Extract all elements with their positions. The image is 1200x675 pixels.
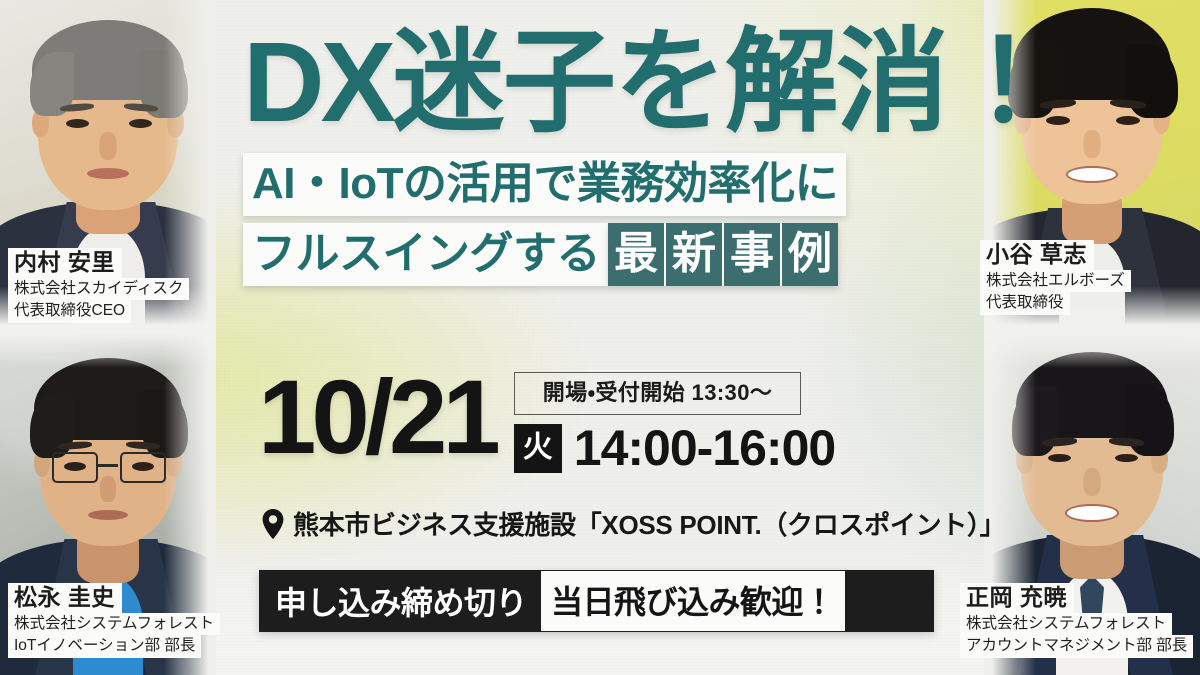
speaker-company: 株式会社システムフォレスト: [8, 613, 220, 636]
speaker-company: 株式会社システムフォレスト: [960, 613, 1172, 636]
highlight-char-2: 新: [666, 223, 724, 286]
title-latin: DX: [243, 19, 392, 145]
venue-row: 熊本市ビジネス支援施設「XOSS POINT.（クロスポイント）」: [262, 505, 1005, 542]
speaker-company: 株式会社スカイディスク: [8, 278, 189, 301]
doors-open-note: 開場・受付開始 13:30〜: [514, 372, 801, 415]
highlight-boxes: 最 新 事 例: [608, 223, 838, 286]
subtitle-row-2: フルスイングする 最 新 事 例: [243, 223, 973, 286]
subtitle-group: AI・IoTの活用で業務効率化に フルスイングする 最 新 事 例: [243, 153, 973, 286]
speaker-company: 株式会社エルボーズ: [980, 270, 1131, 293]
speaker-name: 正岡 充暁: [960, 583, 1074, 613]
speaker-caption-top-right: 小谷 草志 株式会社エルボーズ 代表取締役: [980, 240, 1131, 315]
venue-name: 熊本市ビジネス支援施設「XOSS POINT.（クロスポイント）」: [293, 505, 1005, 542]
speaker-name: 小谷 草志: [980, 240, 1094, 270]
page-title: DX迷子を解消！: [243, 26, 973, 139]
speaker-name: 内村 安里: [8, 248, 122, 278]
cta-deadline-label: 申し込み締め切り: [275, 578, 527, 624]
highlight-char-1: 最: [608, 223, 666, 286]
speaker-caption-bottom-left: 松永 圭史 株式会社システムフォレスト IoTイノベーション部 部長: [8, 583, 220, 658]
headline-group: DX迷子を解消！ AI・IoTの活用で業務効率化に フルスイングする 最 新 事…: [243, 26, 973, 293]
map-pin-icon: [262, 509, 284, 539]
weekday-badge: 火: [514, 424, 562, 473]
subtitle-line-1: AI・IoTの活用で業務効率化に: [243, 153, 846, 216]
highlight-char-3: 事: [724, 223, 782, 286]
cta-highlight-label: 当日飛び込み歓迎！: [541, 571, 845, 631]
subtitle-row-1: AI・IoTの活用で業務効率化に: [243, 153, 973, 216]
cta-bar: 申し込み締め切り 当日飛び込み歓迎！: [259, 570, 934, 632]
event-datetime-group: 10/21 開場・受付開始 13:30〜 火 14:00-16:00: [258, 368, 835, 473]
highlight-char-4: 例: [782, 223, 838, 286]
photo-edge-fade: [0, 330, 216, 368]
time-row: 火 14:00-16:00: [514, 423, 835, 473]
speaker-caption-top-left: 内村 安里 株式会社スカイディスク 代表取締役CEO: [8, 248, 189, 323]
speaker-name: 松永 圭史: [8, 583, 122, 613]
photo-edge-fade: [984, 330, 1200, 368]
speaker-title: 代表取締役CEO: [8, 300, 131, 323]
speaker-title: アカウントマネジメント部 部長: [960, 635, 1193, 658]
subtitle-line-2: フルスイングする: [243, 223, 608, 286]
title-japanese: 迷子を解消！: [392, 19, 1058, 145]
event-banner: DX迷子を解消！ AI・IoTの活用で業務効率化に フルスイングする 最 新 事…: [0, 0, 1200, 675]
speaker-title: 代表取締役: [980, 292, 1070, 315]
event-time-group: 開場・受付開始 13:30〜 火 14:00-16:00: [514, 368, 835, 473]
speaker-title: IoTイノベーション部 部長: [8, 635, 201, 658]
event-date: 10/21: [258, 368, 496, 469]
speaker-caption-bottom-right: 正岡 充暁 株式会社システムフォレスト アカウントマネジメント部 部長: [960, 583, 1193, 658]
event-time: 14:00-16:00: [574, 423, 835, 473]
